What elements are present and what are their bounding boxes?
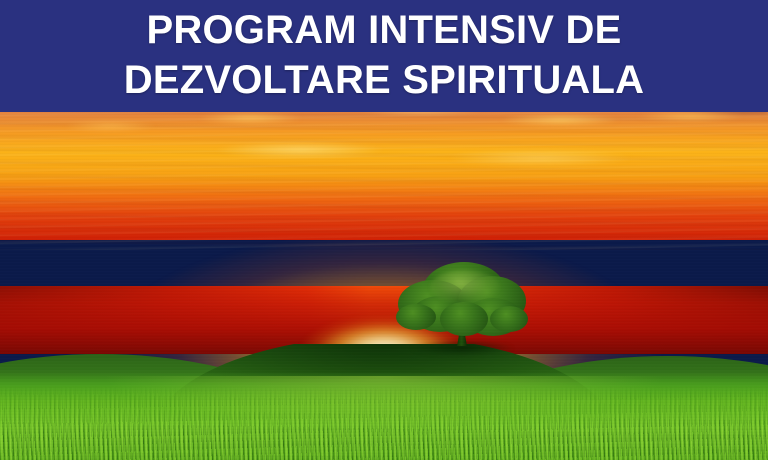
title-banner: PROGRAM INTENSIV DE DEZVOLTARE SPIRITUAL… bbox=[0, 0, 768, 112]
tree-canopy bbox=[396, 262, 528, 342]
grass-blade-texture-foreground bbox=[0, 412, 768, 460]
title-line-2: DEZVOLTARE SPIRITUALA bbox=[124, 55, 645, 105]
canopy-highlight bbox=[430, 270, 500, 304]
ground bbox=[0, 344, 768, 460]
poster: PROGRAM INTENSIV DE DEZVOLTARE SPIRITUAL… bbox=[0, 0, 768, 460]
title-line-1: PROGRAM INTENSIV DE bbox=[147, 5, 622, 55]
